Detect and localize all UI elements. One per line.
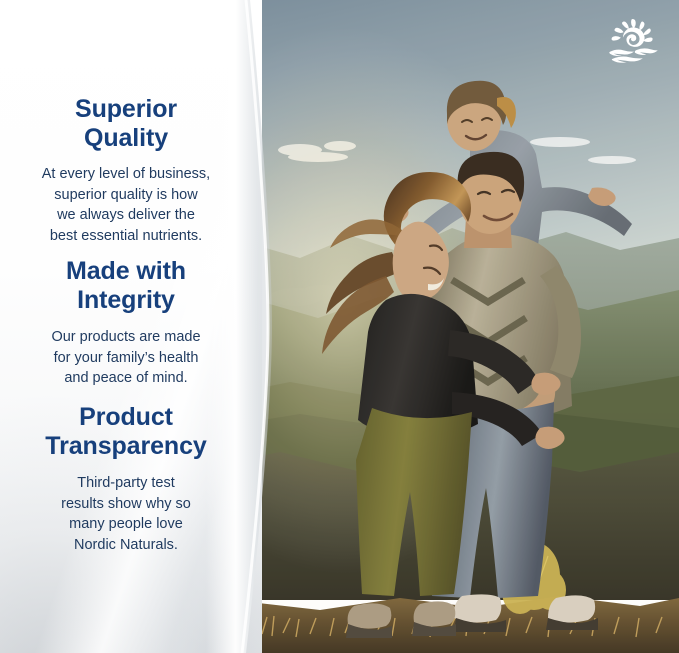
promo-banner: Superior Quality At every level of busin… bbox=[0, 0, 679, 653]
value-body-product-transparency: Third-party test results show why so man… bbox=[0, 473, 252, 555]
values-text-column: Superior Quality At every level of busin… bbox=[0, 0, 252, 653]
value-block-superior-quality: Superior Quality At every level of busin… bbox=[0, 95, 252, 246]
sun-over-waves-logo bbox=[604, 17, 660, 67]
value-body-made-with-integrity: Our products are made for your family’s … bbox=[0, 327, 252, 389]
value-heading-made-with-integrity: Made with Integrity bbox=[0, 257, 252, 315]
value-block-made-with-integrity: Made with Integrity Our products are mad… bbox=[0, 257, 252, 389]
value-block-product-transparency: Product Transparency Third-party test re… bbox=[0, 403, 252, 555]
value-body-superior-quality: At every level of business, superior qua… bbox=[0, 164, 252, 246]
value-heading-product-transparency: Product Transparency bbox=[0, 403, 252, 461]
value-heading-superior-quality: Superior Quality bbox=[0, 95, 252, 153]
